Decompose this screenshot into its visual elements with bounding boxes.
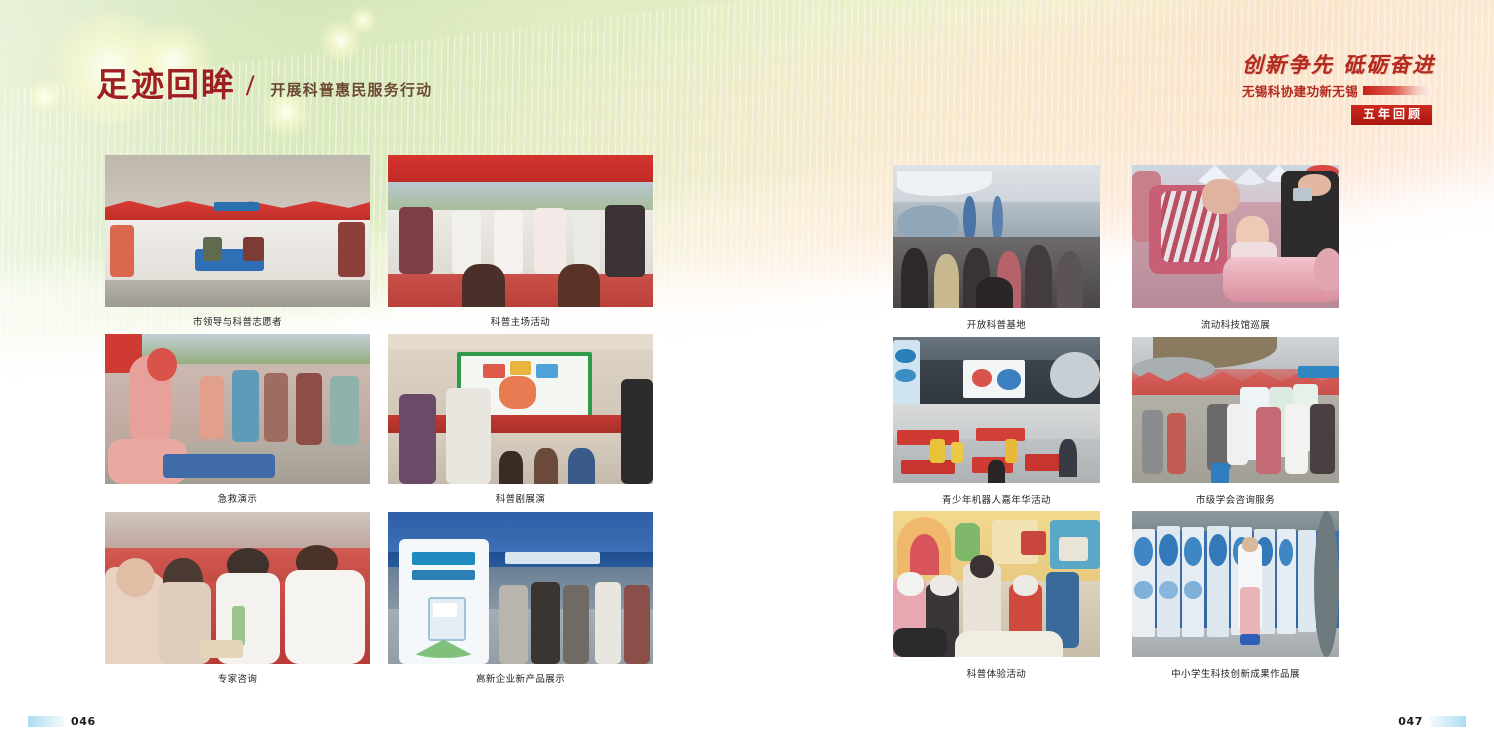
photo-left-2 [388, 155, 653, 307]
photo-left-4-art [388, 334, 653, 484]
campaign-logo: 创新争先 砥砺奋进 无锡科协建功新无锡 五年回顾 [1242, 54, 1432, 125]
photo-left-2-art [388, 155, 653, 307]
photo-right-6-caption: 中小学生科技创新成果作品展 [1132, 666, 1339, 680]
photo-left-5 [105, 512, 370, 664]
photo-right-4 [1132, 337, 1339, 483]
page-title-main: 足迹回眸 [96, 68, 236, 101]
photo-right-6-art [1132, 511, 1339, 657]
photo-left-1 [105, 155, 370, 307]
folio-bar-right [1430, 716, 1466, 727]
photo-left-6-art [388, 512, 653, 664]
photo-left-3-caption: 急救演示 [105, 491, 370, 505]
photo-left-1-art [105, 155, 370, 307]
photo-right-6 [1132, 511, 1339, 657]
photo-left-4-caption: 科普剧展演 [388, 491, 653, 505]
page-subtitle: 开展科普惠民服务行动 [270, 83, 432, 101]
photo-left-2-caption: 科普主场活动 [388, 314, 653, 328]
photo-left-4 [388, 334, 653, 484]
photo-left-5-caption: 专家咨询 [105, 671, 370, 685]
photo-left-5-art [105, 512, 370, 664]
photo-left-3 [105, 334, 370, 484]
photo-right-2 [1132, 165, 1339, 308]
title-divider: / [246, 71, 254, 101]
page-number-left: 046 [71, 715, 96, 728]
photo-right-2-caption: 流动科技馆巡展 [1132, 317, 1339, 331]
photo-right-1-caption: 开放科普基地 [893, 317, 1100, 331]
photo-right-5-art [893, 511, 1100, 657]
photo-right-1-art [893, 165, 1100, 308]
photo-right-1 [893, 165, 1100, 308]
photo-left-3-art [105, 334, 370, 484]
logo-organization: 无锡科协建功新无锡 [1242, 81, 1358, 100]
photo-right-3-art [893, 337, 1100, 483]
photo-left-6-caption: 高新企业新产品展示 [388, 671, 653, 685]
photo-left-6 [388, 512, 653, 664]
photo-right-3-caption: 青少年机器人嘉年华活动 [893, 492, 1100, 506]
photo-right-4-art [1132, 337, 1339, 483]
page-folio-right: 047 [1398, 715, 1466, 728]
logo-badge: 五年回顾 [1351, 105, 1432, 125]
photo-right-3 [893, 337, 1100, 483]
photo-right-4-caption: 市级学会咨询服务 [1132, 492, 1339, 506]
magazine-spread: 足迹回眸 / 开展科普惠民服务行动 创新争先 砥砺奋进 无锡科协建功新无锡 五年… [0, 0, 1494, 756]
logo-calligraphy: 创新争先 砥砺奋进 [1242, 54, 1432, 76]
logo-accent-bar [1363, 86, 1432, 95]
photo-right-5-caption: 科普体验活动 [893, 666, 1100, 680]
page-title: 足迹回眸 / 开展科普惠民服务行动 [96, 68, 432, 101]
page-number-right: 047 [1398, 715, 1423, 728]
page-folio-left: 046 [28, 715, 96, 728]
photo-right-5 [893, 511, 1100, 657]
photo-left-1-caption: 市领导与科普志愿者 [105, 314, 370, 328]
folio-bar-left [28, 716, 64, 727]
photo-right-2-art [1132, 165, 1339, 308]
